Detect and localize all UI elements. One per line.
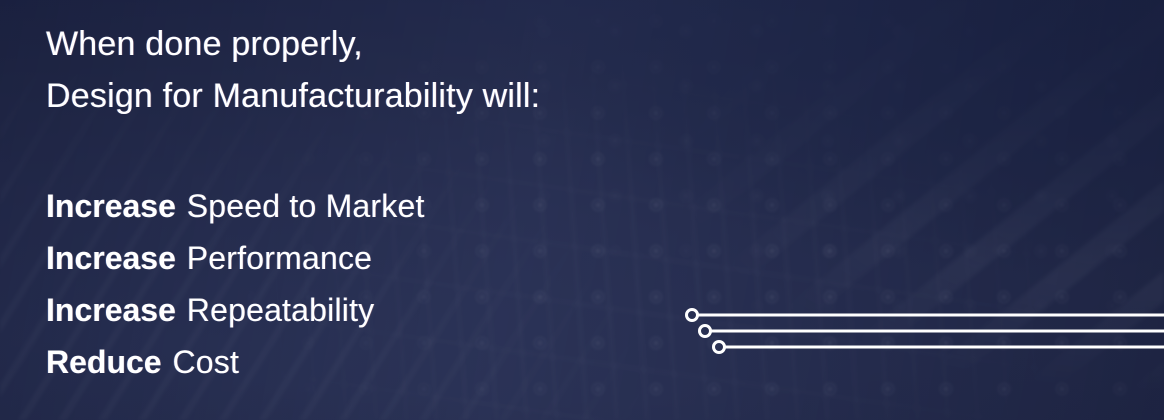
dfm-benefits-banner: When done properly, Design for Manufactu… bbox=[0, 0, 1164, 420]
benefit-item: Increase Speed to Market bbox=[46, 180, 425, 232]
trace-pad-2 bbox=[700, 326, 711, 337]
benefit-item: Reduce Cost bbox=[46, 336, 425, 388]
trace-pad-1 bbox=[687, 310, 698, 321]
benefit-subject: Performance bbox=[187, 240, 372, 276]
benefit-verb: Increase bbox=[46, 240, 185, 276]
headline: When done properly, Design for Manufactu… bbox=[46, 18, 540, 122]
benefit-item: Increase Repeatability bbox=[46, 284, 425, 336]
headline-line-1: When done properly, bbox=[46, 18, 540, 70]
benefits-list: Increase Speed to Market Increase Perfor… bbox=[46, 180, 425, 388]
circuit-trace-graphic bbox=[680, 296, 1164, 360]
headline-line-2: Design for Manufacturability will: bbox=[46, 70, 540, 122]
benefit-verb: Increase bbox=[46, 188, 185, 224]
benefit-subject: Repeatability bbox=[187, 292, 375, 328]
benefit-subject: Speed to Market bbox=[187, 188, 425, 224]
benefit-verb: Reduce bbox=[46, 344, 170, 380]
benefit-subject: Cost bbox=[172, 344, 239, 380]
benefit-verb: Increase bbox=[46, 292, 185, 328]
trace-pad-3 bbox=[714, 342, 725, 353]
benefit-item: Increase Performance bbox=[46, 232, 425, 284]
